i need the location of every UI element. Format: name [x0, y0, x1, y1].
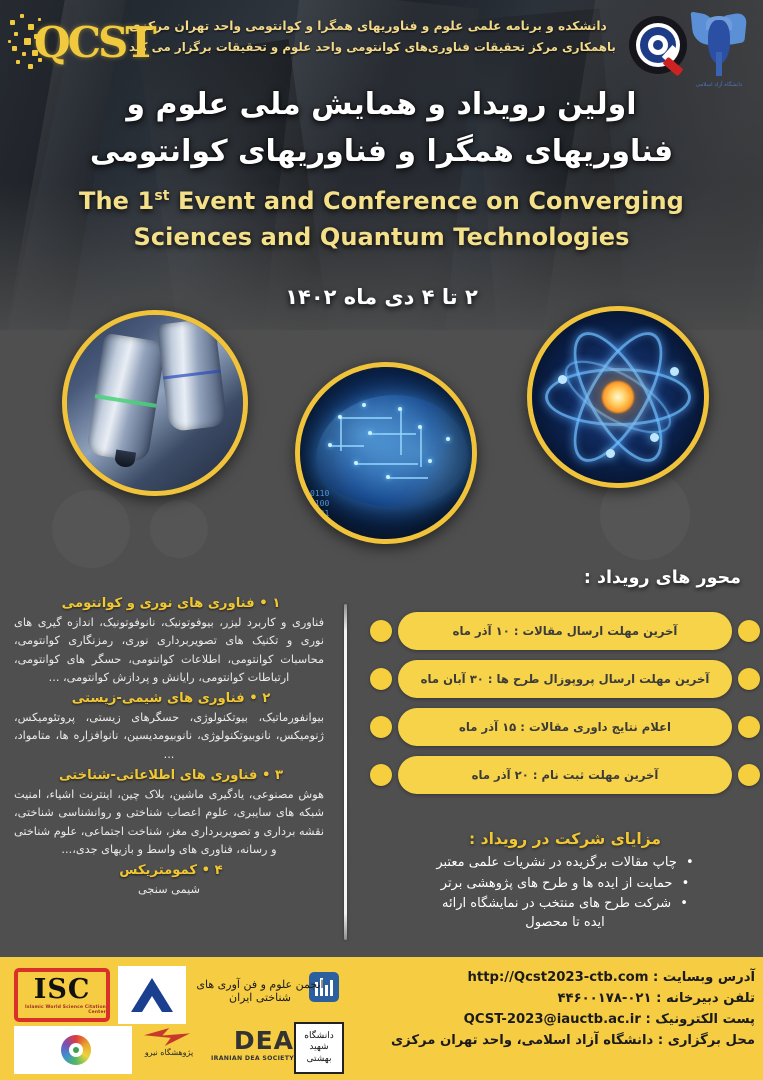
topic-item: ۴ • کمومتریکس شیمی سنجی [6, 863, 336, 899]
column-divider [344, 604, 347, 940]
benefit-text: شرکت طرح های منتخب در نمایشگاه ارائه [442, 896, 671, 911]
sbu-logo-label: دانشگاه شهید بهشتی [296, 1031, 342, 1065]
cognitive-triangle-icon [131, 978, 173, 1012]
benefit-continuation-text: ایده تا محصول [370, 915, 760, 930]
contact-info: آدرس وبسایت : http://Qcst2023-ctb.com تل… [343, 968, 755, 1051]
contact-venue-label: محل برگزاری : [658, 1033, 755, 1048]
power-research-label [55, 1044, 58, 1055]
sponsor-logos: ISC Islamic World Science Citation Cente… [6, 964, 336, 1078]
topic-heading: ۴ • کمومتریکس [6, 863, 336, 878]
topic-number: ۱ [272, 596, 280, 611]
contact-venue-value: دانشگاه آزاد اسلامی، واحد تهران مرکزی [391, 1033, 653, 1048]
topic-heading: ۳ • فناوری های اطلاعاتی-شناختی [6, 768, 336, 783]
topic-item: ۱ • فناوری های نوری و کوانتومی فناوری و … [6, 596, 336, 687]
isc-logo: ISC Islamic World Science Citation Cente… [14, 968, 110, 1022]
dea-society-logo: DEA IRANIAN DEA SOCIETY [202, 1028, 294, 1076]
binary-code-text: 0110 0100 1001 1001 [310, 489, 329, 529]
contact-phone-line: تلفن دبیرخانه : ۰۲۱-۴۴۶۰۰۱۷۸ [343, 989, 755, 1010]
title-english-rest: Event and Conference on Converging [170, 187, 684, 215]
header-organizer-text: دانشکده و برنامه علمی علوم و فناوریهای ه… [118, 16, 618, 57]
topic-item: ۲ • فناوری های شیمی-زیستی بیوانفورماتیک،… [6, 691, 336, 764]
deadline-dot-left-icon [738, 668, 760, 690]
benefit-text: حمایت از ایده ها و طرح های پژوهشی برتر [441, 876, 673, 891]
benefit-bullet-icon: • [686, 855, 694, 870]
topic-number: ۲ [262, 691, 270, 706]
header-line-1: دانشکده و برنامه علمی علوم و فناوریهای ه… [118, 16, 618, 37]
topic-body: بیوانفورماتیک، بیوتکنولوژی، حسگرهای زیست… [6, 709, 336, 764]
topic-bullet: • [249, 691, 257, 706]
isc-logo-subtext: Islamic World Science Citation Center [18, 1005, 106, 1015]
contact-phone-value: ۰۲۱-۴۴۶۰۰۱۷۸ [557, 991, 651, 1006]
page-title-english: The 1st Event and Conference on Convergi… [0, 183, 763, 256]
footer: آدرس وبسایت : http://Qcst2023-ctb.com تل… [0, 960, 763, 1080]
dea-logo-subtext: IRANIAN DEA SOCIETY [202, 1055, 294, 1062]
header-logos: دانشگاه آزاد اسلامی [629, 8, 757, 100]
contact-email-line: پست الکترونیک : QCST-2023@iauctb.ac.ir [343, 1010, 755, 1031]
title-farsi-line-2: فناوریهای همگرا و فناوریهای کوانتومی [0, 129, 763, 176]
qcst-circular-logo-icon [629, 16, 687, 74]
decorative-circle [52, 490, 130, 568]
cognitive-society-logo [118, 966, 186, 1024]
contact-phone-label: تلفن دبیرخانه : [656, 991, 755, 1006]
topic-heading: ۱ • فناوری های نوری و کوانتومی [6, 596, 336, 611]
topic-title: فناوری های شیمی-زیستی [72, 691, 245, 706]
benefit-item: • شرکت طرح های منتخب در نمایشگاه ارائه [370, 894, 760, 915]
deadline-row: آخرین مهلت ارسال پروپوزال طرح ها : ۳۰ آب… [370, 660, 760, 698]
deadline-row: آخرین مهلت ثبت نام : ۲۰ آذر ماه [370, 756, 760, 794]
lightning-bolt-icon [144, 1028, 190, 1046]
power-research-logo [14, 1026, 132, 1074]
benefits-title: مزایای شرکت در رویداد : [370, 830, 760, 848]
benefit-item: • حمایت از ایده ها و طرح های پژوهشی برتر [370, 874, 760, 895]
deadline-dot-left-icon [738, 620, 760, 642]
topic-bullet: • [259, 596, 267, 611]
deadline-row: آخرین مهلت ارسال مقالات : ۱۰ آذر ماه [370, 612, 760, 650]
qcst-logo-text: QCST [34, 18, 154, 67]
deadline-dot-left-icon [738, 764, 760, 786]
microscope-image [62, 310, 248, 496]
benefit-bullet-icon: • [682, 876, 690, 891]
dea-logo-text: DEA [202, 1028, 294, 1053]
header-line-2: باهمکاری مرکز تحقیقات فناوری‌های کوانتوم… [118, 37, 618, 57]
topic-item: ۳ • فناوری های اطلاعاتی-شناختی هوش مصنوع… [6, 768, 336, 859]
topic-body: شیمی سنجی [6, 881, 336, 899]
contact-website-line: آدرس وبسایت : http://Qcst2023-ctb.com [343, 968, 755, 989]
isc-logo-text: ISC [34, 976, 91, 1003]
topic-bullet: • [202, 863, 210, 878]
niroo-research-label: پژوهشگاه نیرو [134, 1048, 204, 1058]
circuit-brain-image: 0110 0100 1001 1001 [295, 362, 477, 544]
benefit-item: • چاپ مقالات برگزیده در نشریات علمی معتب… [370, 853, 760, 874]
color-wheel-icon [61, 1035, 91, 1065]
contact-email-label: پست الکترونیک : [645, 1012, 755, 1027]
deadlines-list: آخرین مهلت ارسال مقالات : ۱۰ آذر ماه آخر… [370, 612, 760, 804]
benefit-bullet-icon: • [680, 896, 688, 911]
qcst-wordmark: QCST [8, 6, 140, 78]
topic-title: فناوری های نوری و کوانتومی [62, 596, 255, 611]
deadline-row: اعلام نتایج داوری مقالات : ۱۵ آذر ماه [370, 708, 760, 746]
title-english-line-2: Sciences and Quantum Technologies [0, 219, 763, 255]
cognitive-society-label: انجمن علوم و فن آوری های شناختی ایران [190, 978, 330, 1004]
azad-logo-caption: دانشگاه آزاد اسلامی [691, 82, 747, 88]
deadline-dot-right-icon [370, 716, 392, 738]
topic-body: فناوری و کاربرد لیزر، بیوفوتونیک، نانوفو… [6, 614, 336, 687]
title-english-prefix: The 1 [79, 187, 154, 215]
deadline-dot-right-icon [370, 668, 392, 690]
deadline-label: آخرین مهلت ارسال مقالات : ۱۰ آذر ماه [398, 612, 732, 650]
deadline-dot-right-icon [370, 620, 392, 642]
benefits-section: مزایای شرکت در رویداد : • چاپ مقالات برگ… [370, 830, 760, 930]
deadline-label: اعلام نتایج داوری مقالات : ۱۵ آذر ماه [398, 708, 732, 746]
topic-bullet: • [262, 768, 270, 783]
topic-number: ۳ [275, 768, 283, 783]
azad-university-logo-icon: دانشگاه آزاد اسلامی [691, 8, 747, 88]
shahid-beheshti-university-logo: دانشگاه شهید بهشتی [294, 1022, 344, 1074]
title-english-line-1: The 1st Event and Conference on Convergi… [0, 183, 763, 219]
ordinal-suffix: st [154, 188, 169, 204]
contact-website-label: آدرس وبسایت : [653, 970, 755, 985]
contact-venue-line: محل برگزاری : دانشگاه آزاد اسلامی، واحد … [343, 1031, 755, 1052]
topic-number: ۴ [215, 863, 223, 878]
contact-website-value[interactable]: http://Qcst2023-ctb.com [468, 968, 649, 989]
atom-image [527, 306, 709, 488]
benefit-text: چاپ مقالات برگزیده در نشریات علمی معتبر [436, 855, 677, 870]
niroo-research-logo: پژوهشگاه نیرو [134, 1026, 204, 1078]
conference-poster: QCST دانشکده و برنامه علمی علوم و فناوری… [0, 0, 763, 1080]
topic-title: فناوری های اطلاعاتی-شناختی [59, 768, 257, 783]
topics-list: ۱ • فناوری های نوری و کوانتومی فناوری و … [6, 596, 336, 904]
deadline-dot-left-icon [738, 716, 760, 738]
topics-section-title: محور های رویداد : [584, 568, 741, 588]
deadline-dot-right-icon [370, 764, 392, 786]
deadline-label: آخرین مهلت ارسال پروپوزال طرح ها : ۳۰ آب… [398, 660, 732, 698]
topic-body: هوش مصنوعی، یادگیری ماشین، بلاک چین، این… [6, 786, 336, 859]
decorative-circle [150, 500, 208, 558]
topic-heading: ۲ • فناوری های شیمی-زیستی [6, 691, 336, 706]
event-date: ۲ تا ۴ دی ماه ۱۴۰۲ [0, 285, 763, 309]
contact-email-value[interactable]: QCST-2023@iauctb.ac.ir [464, 1010, 641, 1031]
topic-title: کمومتریکس [119, 863, 197, 878]
deadline-label: آخرین مهلت ثبت نام : ۲۰ آذر ماه [398, 756, 732, 794]
